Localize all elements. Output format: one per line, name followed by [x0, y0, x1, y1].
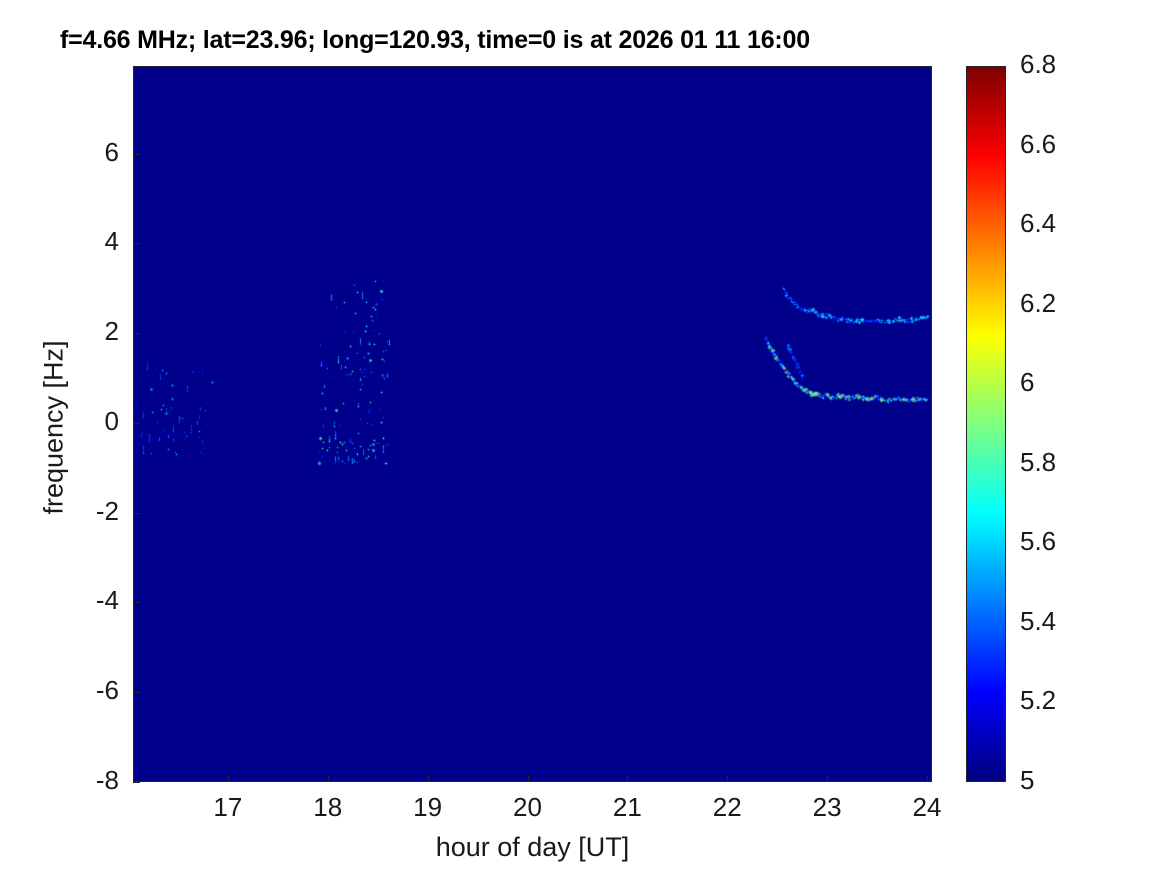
x-tick-label: 20	[498, 792, 558, 823]
y-tick-mark	[133, 154, 140, 155]
y-tick-mark	[133, 423, 140, 424]
y-tick-mark	[133, 782, 140, 783]
colorbar[interactable]	[966, 66, 1006, 782]
spectrogram-axes[interactable]	[133, 66, 932, 782]
x-tick-mark	[927, 775, 928, 782]
x-tick-mark	[528, 775, 529, 782]
x-tick-label: 22	[697, 792, 757, 823]
colorbar-tick-label: 5.6	[1020, 526, 1090, 557]
x-tick-label: 21	[597, 792, 657, 823]
x-tick-label: 17	[198, 792, 258, 823]
y-tick-mark	[133, 692, 140, 693]
spectrogram-image	[133, 66, 932, 782]
x-axis-title: hour of day [UT]	[133, 832, 932, 863]
y-axis-title: frequency [Hz]	[39, 128, 70, 728]
x-tick-mark	[328, 775, 329, 782]
x-tick-mark	[827, 775, 828, 782]
colorbar-tick-label: 5.2	[1020, 685, 1090, 716]
colorbar-tick-label: 6.4	[1020, 208, 1090, 239]
y-tick-mark	[133, 513, 140, 514]
x-tick-mark	[428, 775, 429, 782]
colorbar-tick-label: 6.8	[1020, 49, 1090, 80]
colorbar-gradient	[967, 67, 1005, 781]
x-tick-label: 23	[797, 792, 857, 823]
figure-canvas: f=4.66 MHz; lat=23.96; long=120.93, time…	[0, 0, 1167, 875]
figure-title: f=4.66 MHz; lat=23.96; long=120.93, time…	[60, 26, 1020, 55]
y-tick-mark	[133, 243, 140, 244]
y-tick-mark	[133, 602, 140, 603]
x-tick-mark	[727, 775, 728, 782]
colorbar-tick-label: 6.2	[1020, 288, 1090, 319]
x-tick-label: 18	[298, 792, 358, 823]
y-tick-mark	[133, 333, 140, 334]
x-tick-mark	[228, 775, 229, 782]
colorbar-tick-label: 5.8	[1020, 447, 1090, 478]
colorbar-tick-label: 6	[1020, 367, 1090, 398]
y-tick-label: -8	[59, 765, 119, 796]
colorbar-tick-label: 6.6	[1020, 129, 1090, 160]
colorbar-tick-label: 5	[1020, 765, 1090, 796]
x-tick-label: 24	[897, 792, 957, 823]
x-tick-label: 19	[398, 792, 458, 823]
x-tick-mark	[627, 775, 628, 782]
colorbar-tick-label: 5.4	[1020, 606, 1090, 637]
